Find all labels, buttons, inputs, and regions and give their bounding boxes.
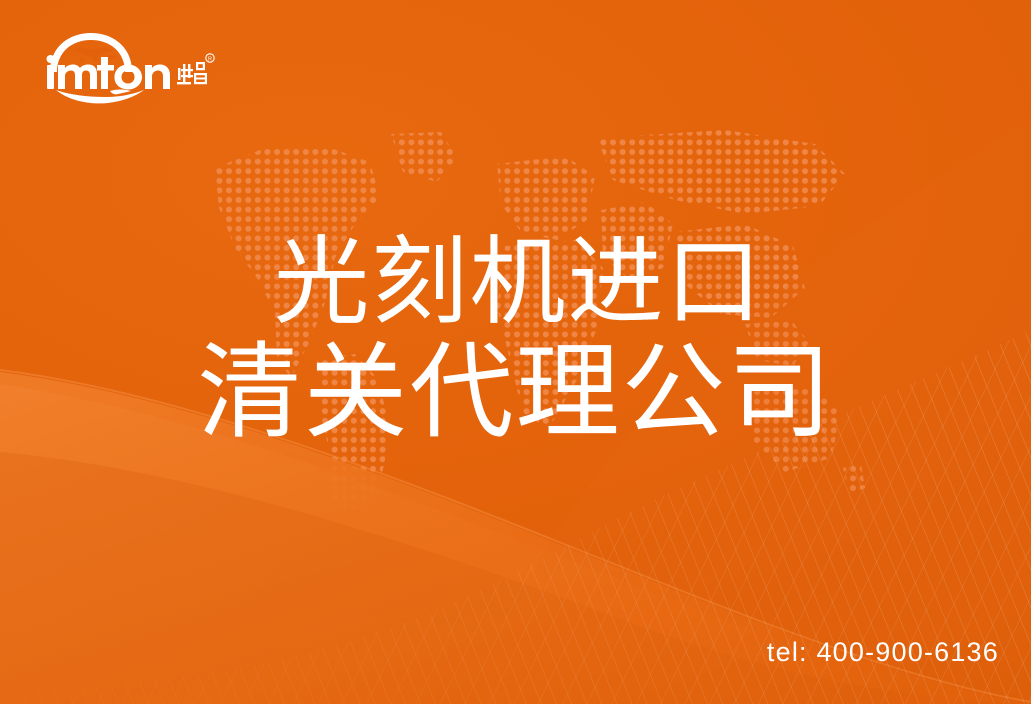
brand-logo[interactable]: R — [36, 28, 216, 104]
globe-continents-icon — [72, 47, 118, 62]
logo-chinese-name — [177, 62, 207, 84]
logo-wordmark — [47, 55, 171, 90]
swoosh-icon — [56, 90, 144, 103]
contact-phone[interactable]: tel: 400-900-6136 — [767, 637, 999, 668]
registered-mark-icon: R — [206, 54, 214, 63]
diagonal-mesh-lines — [0, 0, 1031, 704]
plane-icon — [110, 90, 131, 95]
promo-banner: R 光刻机进口 清关代理公司 tel: 400-900-6136 — [0, 0, 1031, 704]
svg-text:R: R — [208, 56, 212, 62]
